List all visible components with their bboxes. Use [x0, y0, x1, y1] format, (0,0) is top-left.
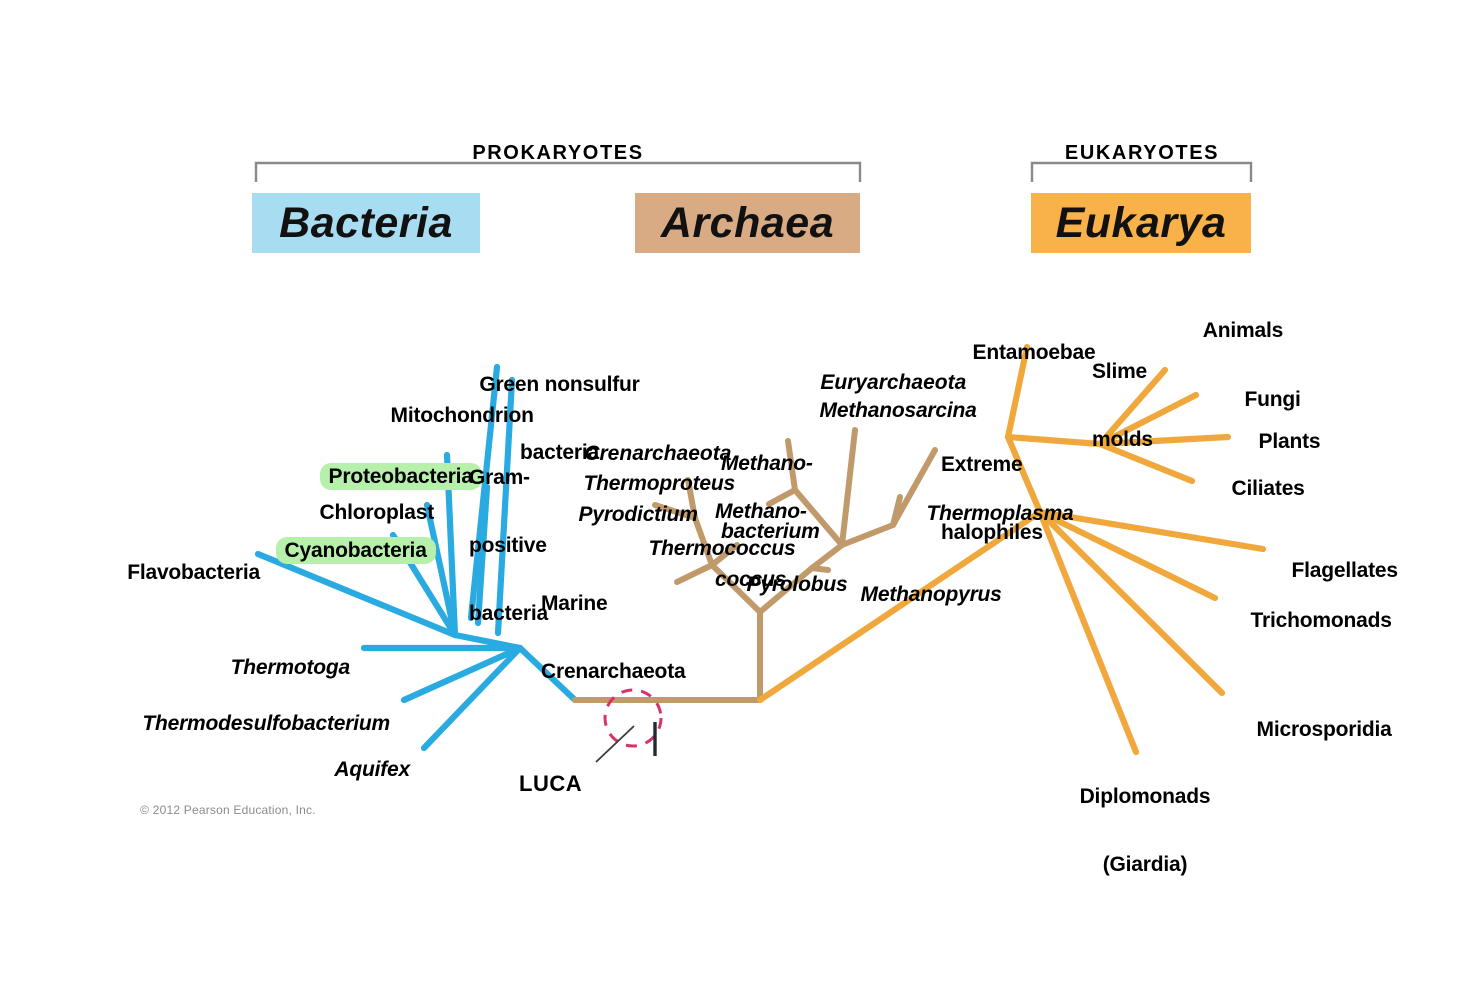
taxon-label-methanococcus: Methano- coccus: [715, 456, 807, 637]
entamoebae-text: Entamoebae: [973, 341, 1096, 364]
domain-label-bacteria: Bacteria: [279, 199, 453, 248]
luca-text: LUCA: [519, 771, 582, 796]
taxon-label-marine-crenarchaeota: Marine Crenarchaeota: [541, 548, 685, 729]
thermoplasma-text: Thermoplasma: [927, 502, 1074, 525]
ciliates-text: Ciliates: [1232, 477, 1305, 500]
methanococcus-line2: coccus: [715, 569, 807, 592]
group-header-prokaryotes: PROKARYOTES: [330, 142, 786, 165]
diplomonads-line2: (Giardia): [1055, 854, 1235, 877]
flavobacteria-text: Flavobacteria: [127, 561, 260, 584]
taxon-label-diplomonads: Diplomonads (Giardia): [1055, 741, 1235, 922]
domain-label-eukarya: Eukarya: [1056, 199, 1227, 248]
marine-line1: Marine: [541, 593, 685, 616]
slime-line2: molds: [1092, 429, 1153, 452]
taxon-label-animals: Animals: [1181, 297, 1283, 365]
green-nonsulfur-line1: Green nonsulfur: [477, 374, 642, 397]
taxon-label-flavobacteria: Flavobacteria: [70, 539, 260, 607]
thermotoga-text: Thermotoga: [231, 656, 350, 679]
group-header-eukaryotes: EUKARYOTES: [1006, 142, 1278, 165]
group-header-eukaryotes-label: EUKARYOTES: [1065, 142, 1219, 164]
slime-line1: Slime: [1092, 361, 1153, 384]
taxon-label-proteobacteria: Proteobacteria: [297, 443, 482, 511]
copyright-notice: © 2012 Pearson Education, Inc.: [126, 789, 316, 831]
trichomonads-text: Trichomonads: [1251, 609, 1392, 632]
thermodesulfobacterium-text: Thermodesulfobacterium: [142, 712, 390, 735]
copyright-text: © 2012 Pearson Education, Inc.: [140, 803, 316, 817]
taxon-label-thermoplasma: Thermoplasma: [904, 480, 1074, 548]
domain-box-bacteria: Bacteria: [252, 193, 480, 253]
extreme-line1: Extreme: [941, 454, 1043, 477]
taxon-label-microsporidia: Microsporidia: [1234, 696, 1392, 764]
taxon-label-gram-positive-bacteria: Gram- positive bacteria: [469, 422, 548, 671]
methanopyrus-text: Methanopyrus: [861, 583, 1002, 606]
flagellates-text: Flagellates: [1292, 559, 1398, 582]
domain-box-eukarya: Eukarya: [1031, 193, 1251, 253]
bracket-eukaryotes: [1032, 163, 1251, 182]
diplomonads-line1: Diplomonads: [1055, 786, 1235, 809]
diplomonads-paren-open: (: [1103, 853, 1110, 876]
domain-label-archaea: Archaea: [661, 199, 834, 248]
animals-text: Animals: [1203, 319, 1283, 342]
group-header-prokaryotes-label: PROKARYOTES: [472, 142, 643, 164]
proteobacteria-text: Proteobacteria: [320, 463, 482, 490]
bracket-prokaryotes: [256, 163, 860, 182]
marine-line2: Crenarchaeota: [541, 661, 685, 684]
gram-line2: positive: [469, 535, 548, 558]
figure-canvas: PROKARYOTES EUKARYOTES Bacteria Archaea …: [0, 0, 1483, 999]
taxon-label-entamoebae: Entamoebae: [950, 319, 1095, 387]
domain-box-archaea: Archaea: [635, 193, 860, 253]
gram-line1: Gram-: [469, 467, 548, 490]
plants-text: Plants: [1259, 430, 1321, 453]
diplomonads-paren-close: ): [1180, 853, 1187, 876]
diplomonads-giardia: Giardia: [1110, 853, 1181, 876]
taxon-label-slime-molds: Slime molds: [1092, 316, 1153, 497]
aquifex-text: Aquifex: [334, 758, 410, 781]
gram-line3: bacteria: [469, 603, 548, 626]
taxon-label-trichomonads: Trichomonads: [1228, 587, 1392, 655]
methanococcus-line1: Methano-: [715, 501, 807, 524]
taxon-label-methanopyrus: Methanopyrus: [838, 561, 1002, 629]
microsporidia-text: Microsporidia: [1257, 718, 1392, 741]
luca-label: LUCA: [519, 771, 582, 797]
taxon-label-ciliates: Ciliates: [1209, 455, 1305, 523]
